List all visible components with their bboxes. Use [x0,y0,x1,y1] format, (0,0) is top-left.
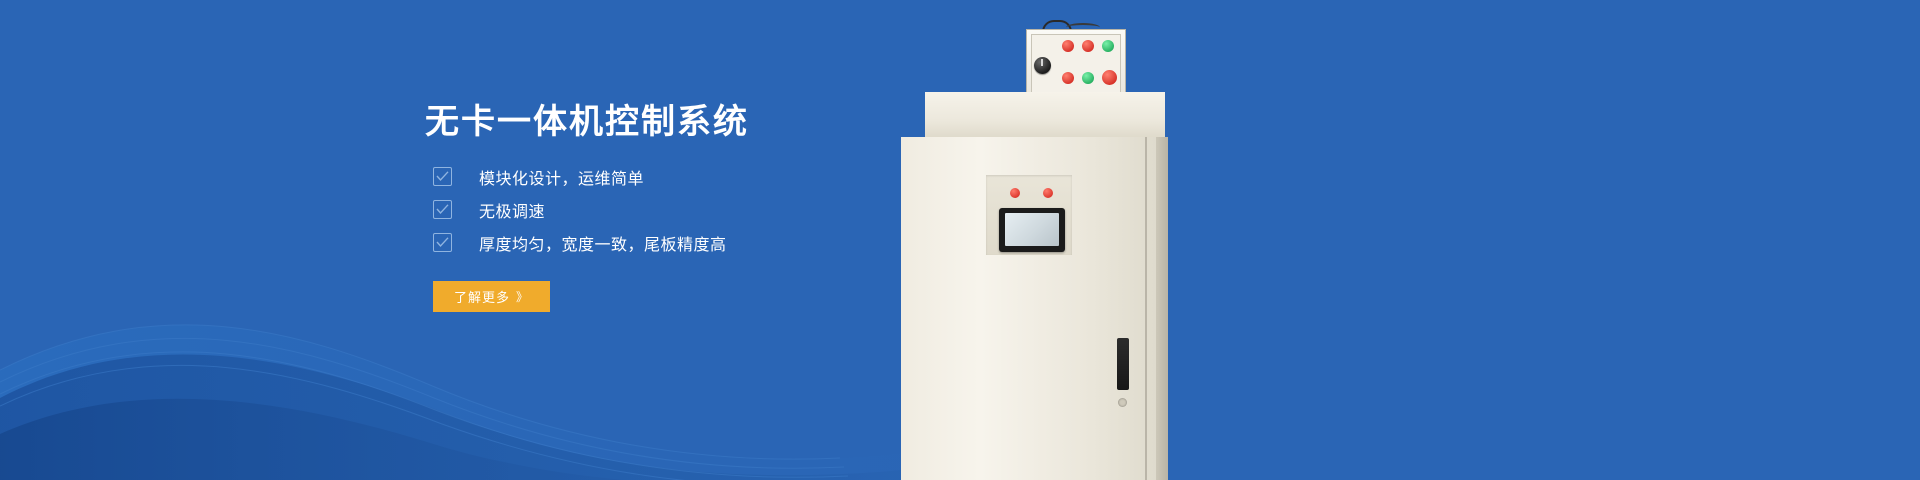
push-button-red [1102,70,1117,85]
control-cabinet-photo [900,0,1260,480]
vent-slot [1117,338,1129,390]
check-square-icon [433,200,452,219]
push-button-red [1062,72,1074,84]
list-item: 无极调速 [433,193,727,226]
learn-more-label: 了解更多 [454,287,510,306]
push-button-green [1082,72,1094,84]
feature-label: 厚度均匀，宽度一致，尾板精度高 [479,231,727,255]
cabinet-top-hood [925,92,1165,140]
push-button-green [1102,40,1114,52]
hero-banner: 无卡一体机控制系统 模块化设计，运维简单 无极调速 [0,0,1920,480]
push-button-red [1062,40,1074,52]
hmi-touchscreen [999,208,1065,252]
chevron-right-icon: 》 [516,288,529,305]
push-button-red [1082,40,1094,52]
feature-label: 无极调速 [479,198,545,222]
indicator-light-red [1010,188,1020,198]
list-item: 模块化设计，运维简单 [433,160,727,193]
cabinet-lock [1118,398,1127,407]
feature-list: 模块化设计，运维简单 无极调速 厚度均匀，宽度一致，尾板精度高 [433,160,727,259]
feature-label: 模块化设计，运维简单 [479,165,644,189]
cabinet-door-seam [1145,137,1147,480]
selector-knob [1034,57,1051,74]
learn-more-button[interactable]: 了解更多 》 [433,281,550,312]
check-square-icon [433,167,452,186]
list-item: 厚度均匀，宽度一致，尾板精度高 [433,226,727,259]
indicator-light-red [1043,188,1053,198]
check-square-icon [433,233,452,252]
hmi-screen-glass [1005,213,1059,246]
page-title: 无卡一体机控制系统 [425,94,749,143]
cabinet-side-edge [1156,137,1168,480]
